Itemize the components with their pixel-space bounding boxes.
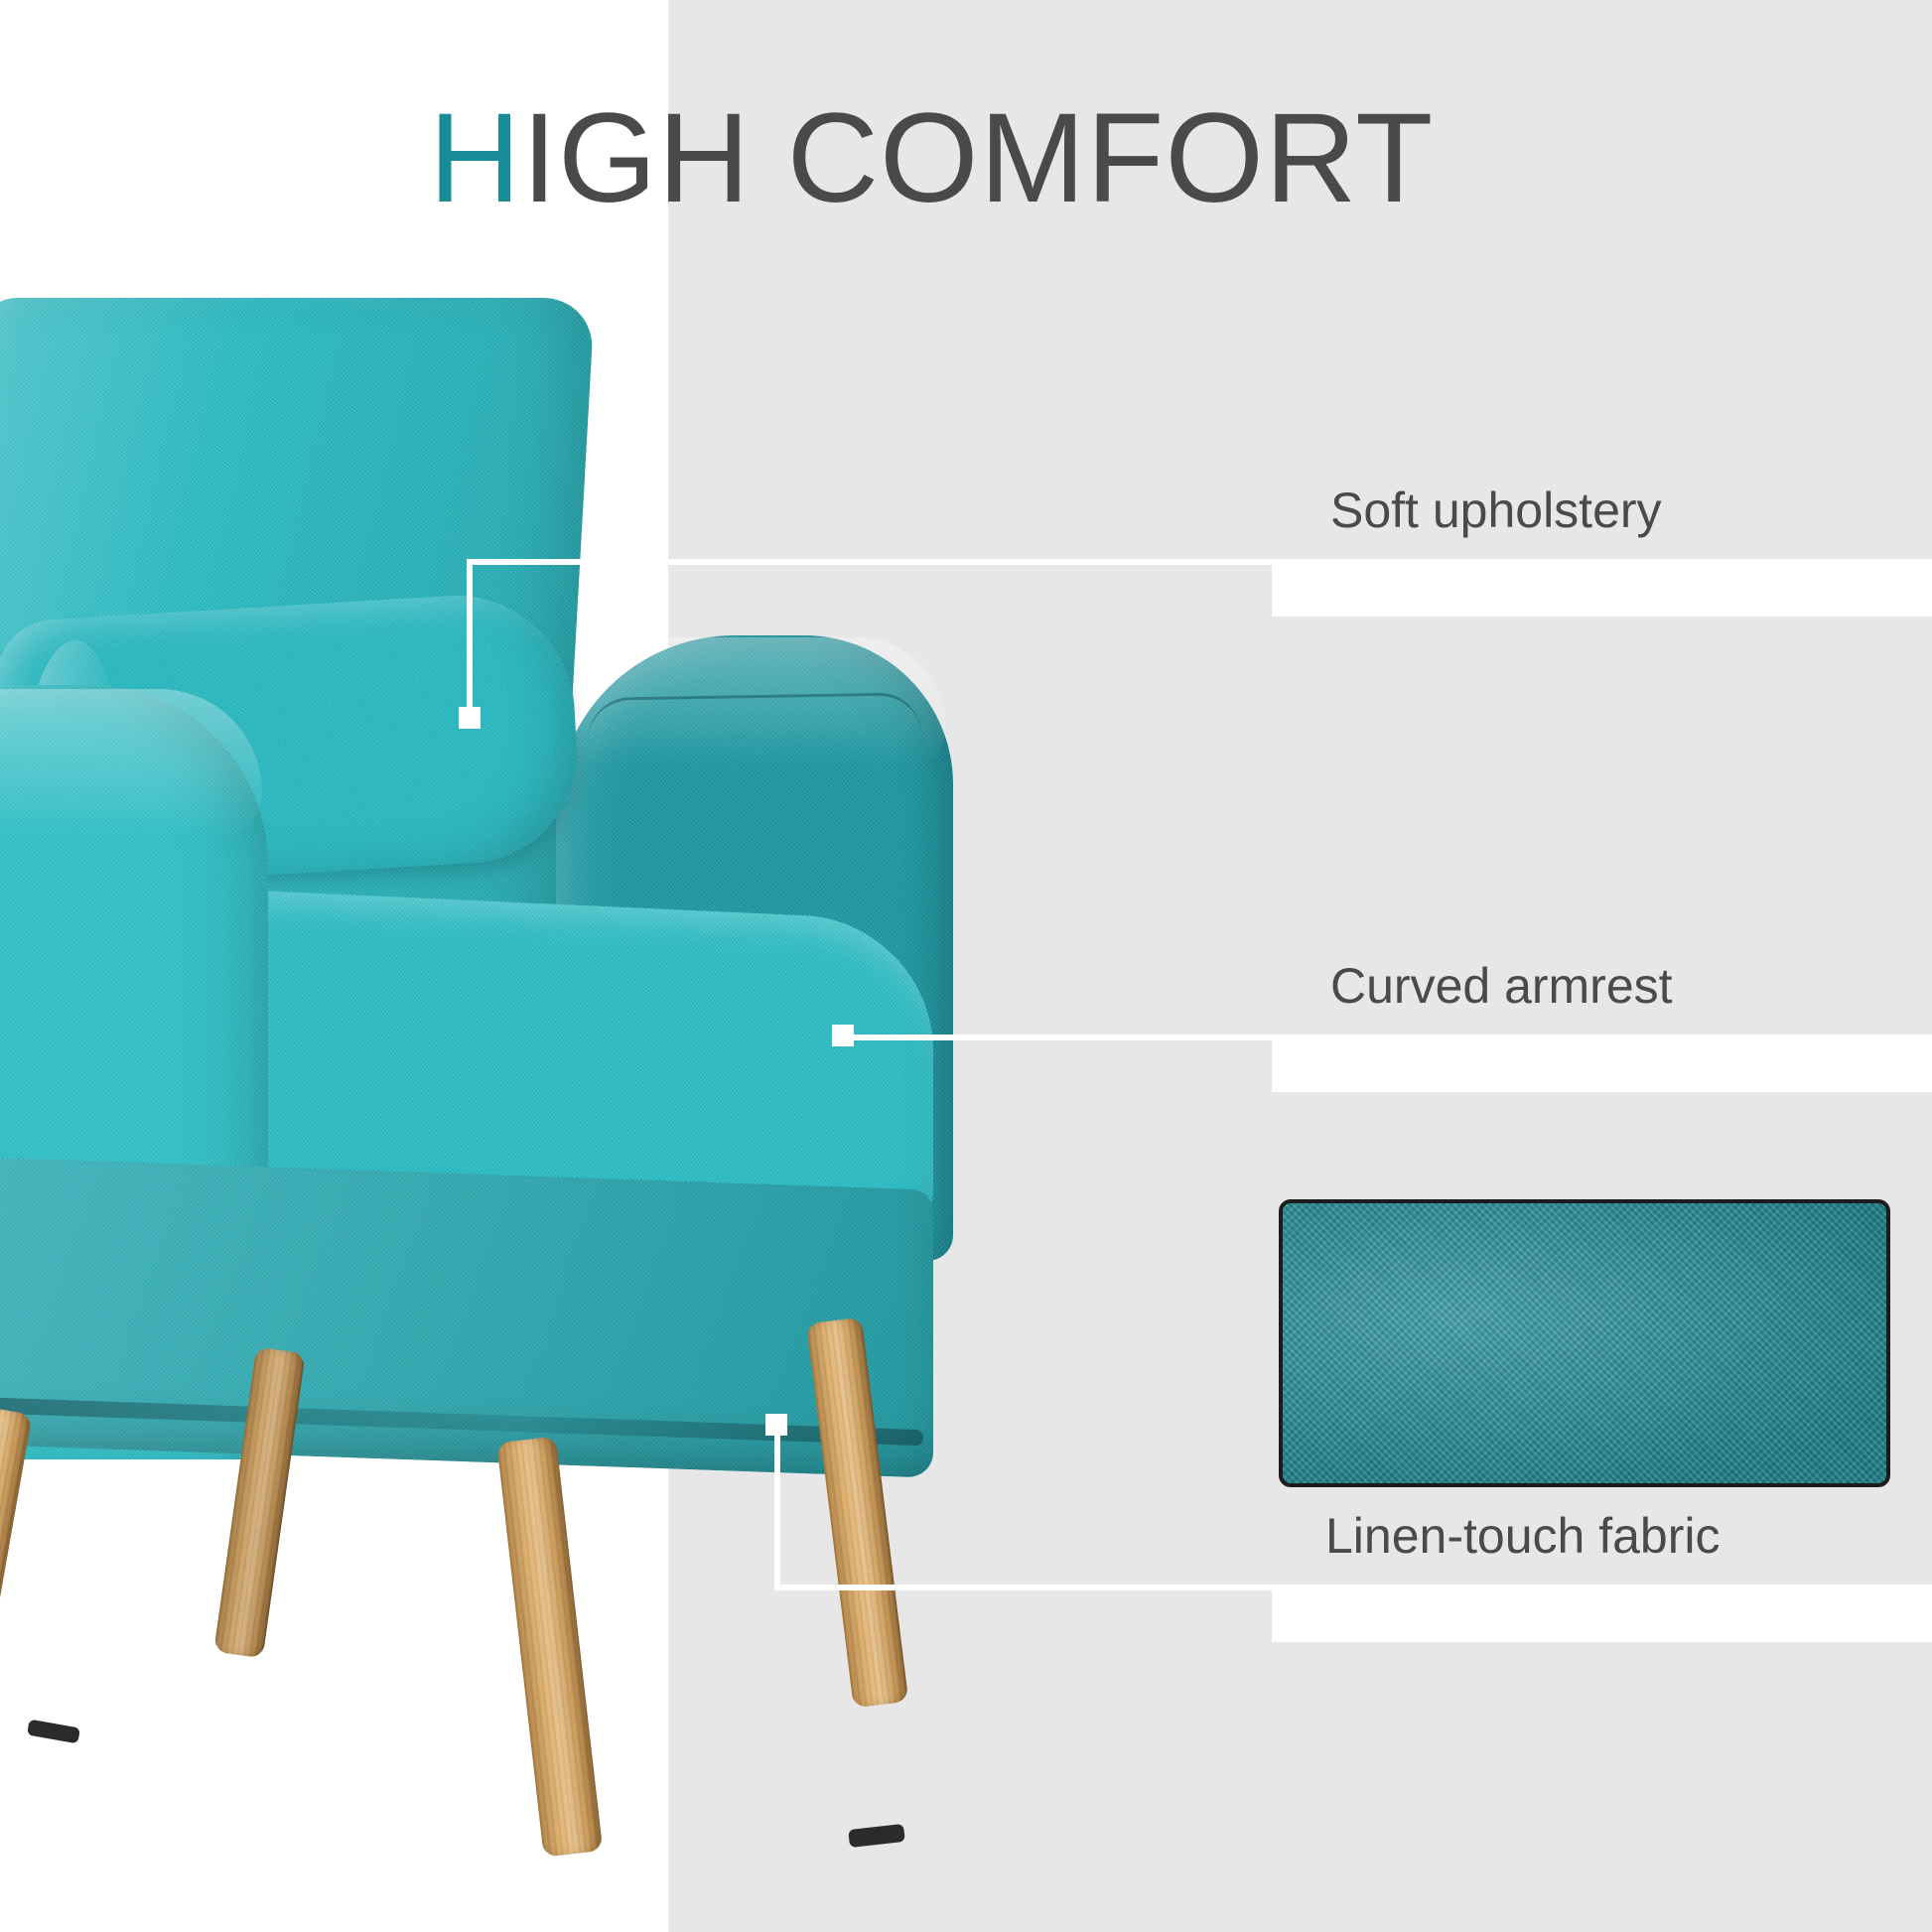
armrest-left-highlight bbox=[0, 689, 262, 838]
fabric-swatch-texture bbox=[1283, 1203, 1886, 1483]
callout-marker-curved-armrest[interactable] bbox=[832, 1025, 854, 1046]
callout-band-soft-upholstery bbox=[1272, 559, 1932, 617]
callout-label-linen-fabric: Linen-touch fabric bbox=[1325, 1511, 1720, 1561]
callout-marker-soft-upholstery[interactable] bbox=[459, 707, 481, 729]
infographic-canvas: HIGH COMFORT Soft upholstery Curved armr… bbox=[0, 0, 1932, 1932]
title-rest: IGH COMFORT bbox=[521, 87, 1434, 229]
armrest-right-seam bbox=[588, 692, 922, 741]
callout-label-curved-armrest: Curved armrest bbox=[1330, 961, 1673, 1011]
callout-line-soft-upholstery-vertical bbox=[467, 559, 473, 718]
page-title: HIGH COMFORT bbox=[429, 95, 1434, 222]
title-accent-letter: H bbox=[429, 87, 521, 229]
callout-marker-linen-fabric[interactable] bbox=[765, 1414, 787, 1436]
product-image-armchair bbox=[0, 298, 1052, 1727]
fabric-swatch bbox=[1279, 1199, 1890, 1487]
callout-line-linen-fabric-vertical bbox=[774, 1430, 780, 1590]
callout-label-soft-upholstery: Soft upholstery bbox=[1330, 485, 1662, 535]
callout-band-curved-armrest bbox=[1272, 1035, 1932, 1092]
callout-band-linen-fabric bbox=[1272, 1585, 1932, 1642]
